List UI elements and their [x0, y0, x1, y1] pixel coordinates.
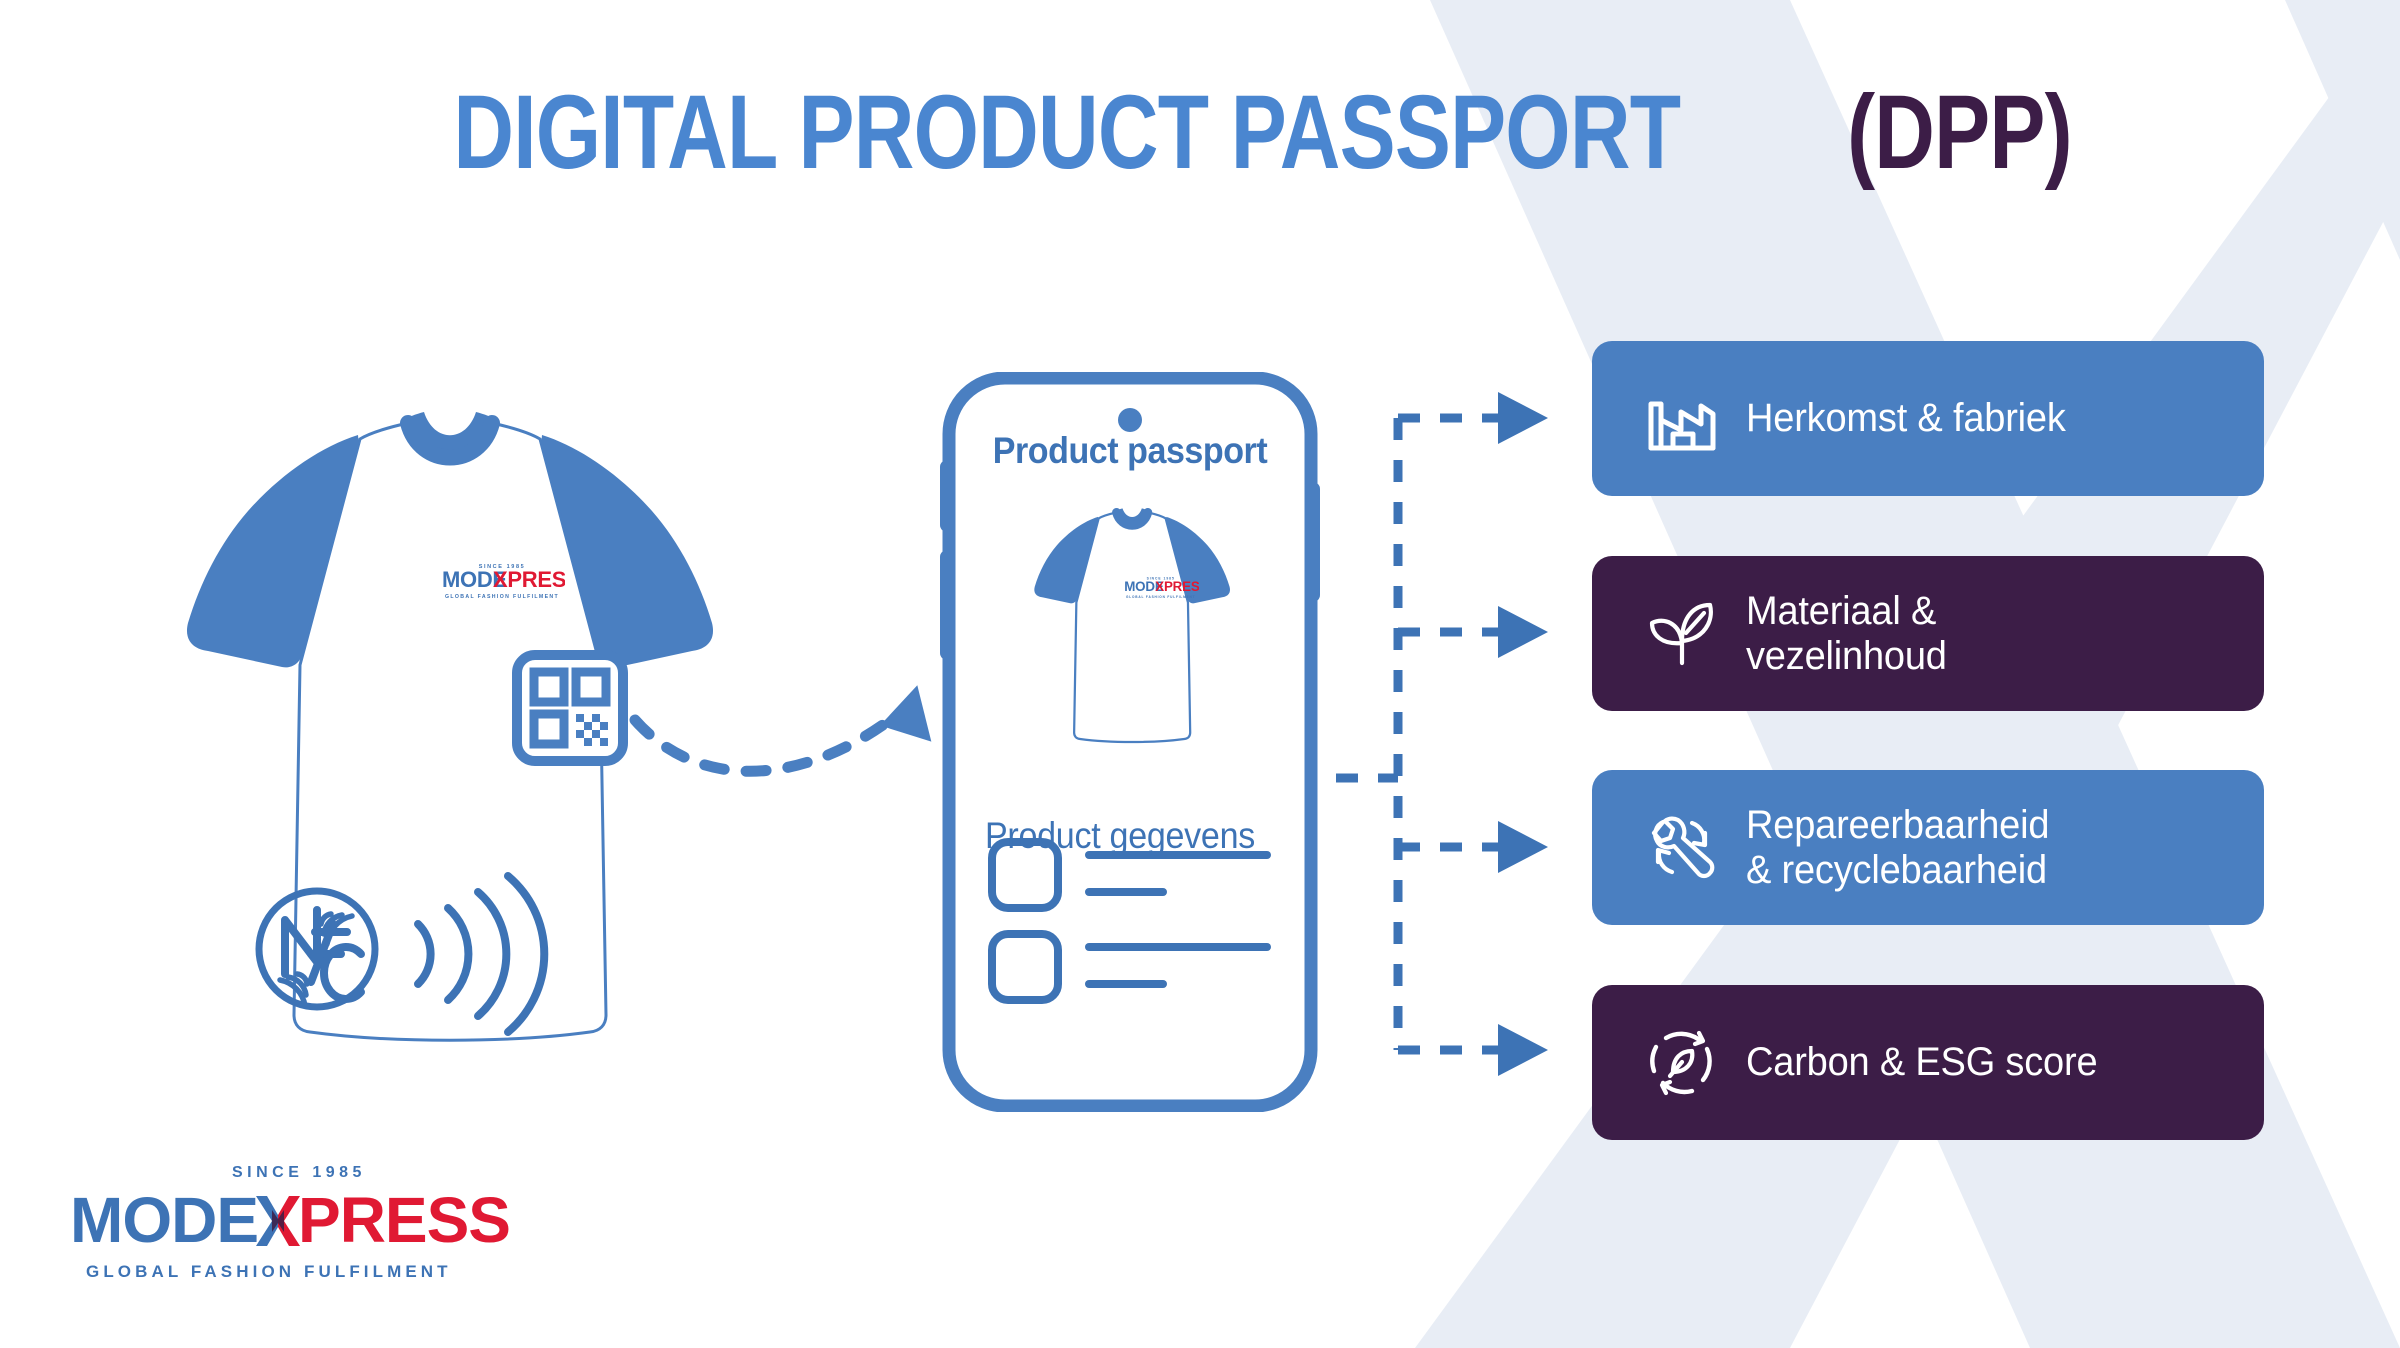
infographic-canvas: DIGITAL PRODUCT PASSPORT(DPP) SINCE 1985… — [0, 0, 2400, 1348]
connector-tree — [1320, 360, 1620, 1080]
phone-section-title: Product gegevens — [985, 815, 1255, 857]
brand-since-text: SINCE 1985 — [232, 1164, 366, 1182]
svg-text:GLOBAL FASHION FULFILMENT: GLOBAL FASHION FULFILMENT — [445, 594, 559, 600]
wrench-recycle-icon — [1644, 810, 1720, 886]
card-materiaal-vezelinhoud[interactable]: Materiaal &vezelinhoud — [1592, 556, 2264, 711]
qr-code-icon[interactable] — [512, 650, 628, 766]
card-label: Repareerbaarheid& recyclebaarheid — [1746, 803, 2049, 893]
scan-flow-arrow — [625, 680, 945, 820]
tshirt-chest-logo: SINCE 1985 MODE XPRESS GLOBAL FASHION FU… — [440, 558, 565, 602]
nfc-icon — [255, 862, 555, 1037]
brand-wordmark: MODE PRESS — [70, 1183, 510, 1257]
phone-screen-title: Product passport — [955, 430, 1305, 472]
page-title: DIGITAL PRODUCT PASSPORT(DPP) — [0, 78, 2400, 188]
page-title-sub: (DPP) — [1847, 78, 2072, 188]
phone-mockup — [940, 372, 1320, 1112]
phone-screen-logo: SINCE 1985 MODE XPRESS GLOBAL FASHION FU… — [1123, 573, 1199, 601]
factory-icon — [1644, 381, 1720, 457]
brand-tagline: GLOBAL FASHION FULFILMENT — [86, 1262, 452, 1282]
card-repareerbaarheid-recyclebaarheid[interactable]: Repareerbaarheid& recyclebaarheid — [1592, 770, 2264, 925]
svg-text:GLOBAL FASHION FULFILMENT: GLOBAL FASHION FULFILMENT — [1126, 595, 1195, 599]
leaf-icon — [1644, 596, 1720, 672]
card-carbon-esg-score[interactable]: Carbon & ESG score — [1592, 985, 2264, 1140]
card-herkomst-fabriek[interactable]: Herkomst & fabriek — [1592, 341, 2264, 496]
page-title-main: DIGITAL PRODUCT PASSPORT — [453, 78, 1680, 188]
svg-text:XPRESS: XPRESS — [493, 567, 565, 592]
carbon-leaf-icon — [1644, 1025, 1720, 1101]
brand-word-press: PRESS — [298, 1184, 510, 1256]
svg-text:XPRESS: XPRESS — [1155, 579, 1199, 594]
card-label: Herkomst & fabriek — [1746, 396, 2066, 441]
brand-word-mode: MODE — [70, 1184, 258, 1256]
card-label: Carbon & ESG score — [1746, 1040, 2097, 1085]
brand-x-glyph — [255, 1188, 301, 1252]
card-label: Materiaal &vezelinhoud — [1746, 589, 1947, 679]
